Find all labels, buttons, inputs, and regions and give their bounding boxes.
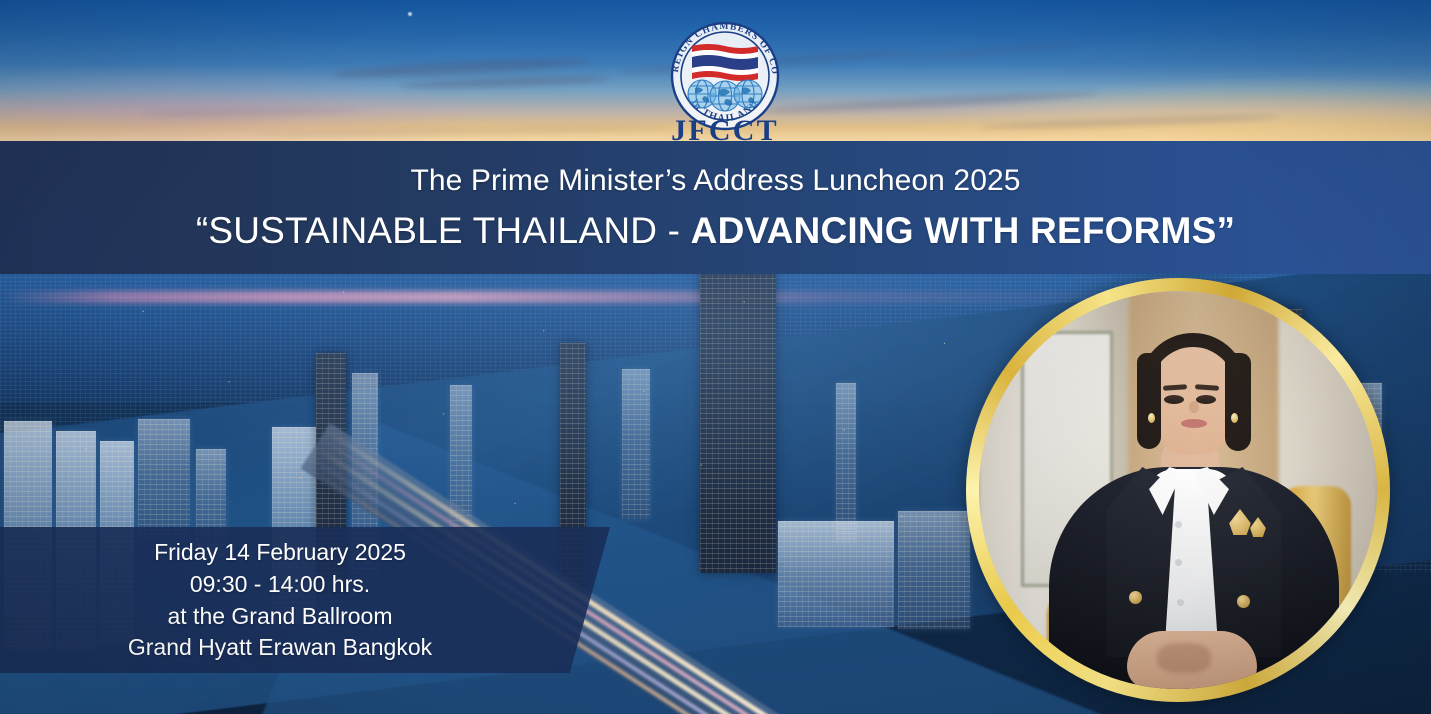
event-title-light: “SUSTAINABLE THAILAND -: [196, 210, 691, 251]
subject-eye: [1196, 395, 1216, 404]
subject-hair-side: [1137, 353, 1161, 449]
earring: [1231, 413, 1238, 423]
event-date: Friday 14 February 2025: [154, 538, 406, 567]
blazer-gold-button: [1129, 591, 1142, 604]
jfcct-logo: JOINT FOREIGN CHAMBERS OF COMMERCE in TH…: [666, 4, 784, 144]
event-subtitle: The Prime Minister’s Address Luncheon 20…: [410, 166, 1020, 196]
event-title-bold: ADVANCING WITH REFORMS”: [691, 210, 1236, 251]
title-banner: The Prime Minister’s Address Luncheon 20…: [0, 141, 1431, 274]
event-details-panel: Friday 14 February 2025 09:30 - 14:00 hr…: [0, 527, 610, 673]
subject-eye: [1164, 395, 1184, 404]
event-poster: The Prime Minister’s Address Luncheon 20…: [0, 0, 1431, 714]
shirt-button: [1177, 599, 1184, 606]
subject-lips: [1181, 419, 1207, 428]
event-venue: at the Grand Ballroom: [167, 602, 392, 631]
event-location: Grand Hyatt Erawan Bangkok: [128, 633, 432, 662]
event-details-text: Friday 14 February 2025 09:30 - 14:00 hr…: [0, 527, 560, 673]
event-title: “SUSTAINABLE THAILAND - ADVANCING WITH R…: [196, 212, 1235, 249]
jfcct-acronym: JFCCT: [671, 114, 779, 144]
speaker-portrait-ring: [966, 278, 1390, 702]
subject-nose: [1189, 401, 1199, 413]
speaker-portrait-photo: [979, 291, 1377, 689]
blazer-gold-button: [1237, 595, 1250, 608]
subject-hair-side: [1225, 353, 1251, 451]
shirt-button: [1175, 559, 1182, 566]
sky-speck: [408, 12, 412, 16]
hand-shadow: [1157, 643, 1211, 673]
shirt-button: [1175, 521, 1182, 528]
earring: [1148, 413, 1155, 423]
event-time: 09:30 - 14:00 hrs.: [190, 570, 370, 599]
